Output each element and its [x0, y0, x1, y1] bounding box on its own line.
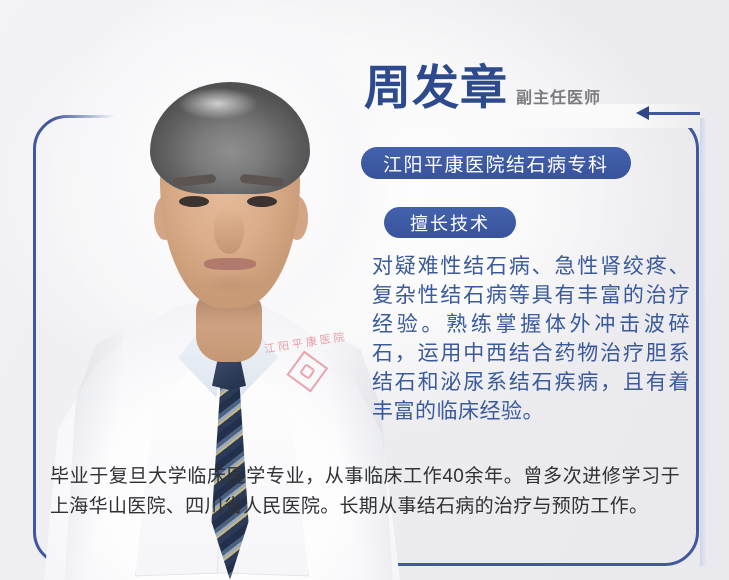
- doctor-name-row: 周发章 副主任医师: [364, 66, 601, 113]
- doctor-name: 周发章: [364, 66, 508, 113]
- necktie-knot: [212, 360, 246, 390]
- hair-highlight: [170, 86, 274, 130]
- hospital-department-badge: 江阳平康医院结石病专科: [361, 147, 631, 179]
- cross-emblem-icon: [286, 351, 328, 393]
- skill-description: 对疑难性结石病、急性肾绞疼、复杂性结石病等具有丰富的治疗经验。熟练掌握体外冲击波…: [372, 252, 690, 426]
- biography-text: 毕业于复旦大学临床医学专业，从事临床工作40余年。曾多次进修学习于上海华山医院、…: [50, 462, 680, 522]
- mouth: [204, 258, 256, 270]
- arrow-left-icon: [636, 106, 649, 120]
- doctor-title: 副主任医师: [516, 84, 601, 113]
- eye-left: [179, 196, 209, 207]
- frame-arrow-line: [648, 112, 700, 115]
- doctor-profile-card: 江阳平康医院 周发章 副主任医师 江阳平康医院结石病专科 擅长技术 对疑难性结石…: [0, 0, 729, 580]
- nose: [214, 208, 244, 254]
- eye-right: [247, 196, 277, 207]
- skill-section-badge: 擅长技术: [384, 207, 516, 238]
- frame-right-highlight: [700, 118, 706, 566]
- chin-shading: [186, 272, 276, 302]
